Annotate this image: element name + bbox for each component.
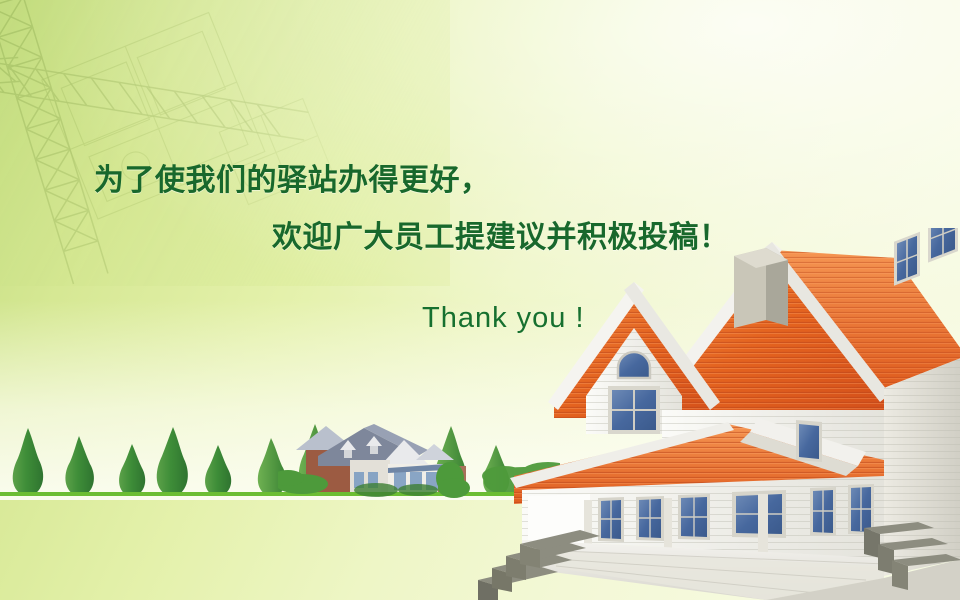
background-house <box>278 420 488 504</box>
thank-you-text: Thank you ! <box>422 302 585 335</box>
foreground-house <box>466 228 960 600</box>
landscape <box>0 390 960 600</box>
foreground-house-svg <box>466 228 960 600</box>
headline-line-2: 欢迎广大员工提建议并积极投稿！ <box>272 212 730 256</box>
background-house-svg <box>278 420 488 504</box>
headline-line-1: 为了使我们的驿站办得更好， <box>94 155 491 199</box>
closing-slide: 为了使我们的驿站办得更好， 欢迎广大员工提建议并积极投稿！ Thank you … <box>0 0 960 600</box>
